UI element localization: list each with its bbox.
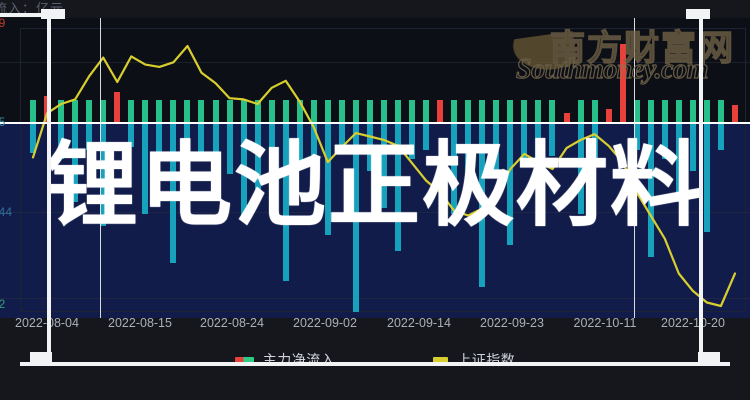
x-axis-label: 2022-08-24	[200, 316, 264, 330]
x-axis-label: 2022-10-11	[573, 316, 636, 330]
x-axis-labels: 2022-08-042022-08-152022-08-242022-09-02…	[0, 316, 750, 336]
legend-swatch-main-net-inflow	[235, 357, 254, 364]
zero-baseline	[0, 122, 750, 124]
x-axis-label: 2022-08-04	[15, 316, 79, 330]
legend-label-main-net-inflow: 主力净流入	[263, 350, 336, 370]
x-axis-label: 2022-10-20	[661, 316, 725, 330]
x-axis-label: 2022-09-23	[480, 316, 544, 330]
y-axis-label: 39	[0, 16, 5, 30]
y-axis-label: 25	[0, 115, 5, 129]
legend-item-shanghai-index[interactable]: 上证指数	[433, 350, 515, 370]
header-partial-text: 流入：亿元	[0, 0, 64, 17]
x-axis-label: 2022-09-14	[387, 316, 451, 330]
legend-item-main-net-inflow[interactable]: 主力净流入	[235, 350, 336, 370]
legend-label-shanghai-index: 上证指数	[457, 350, 515, 370]
x-axis-label: 2022-09-02	[293, 316, 357, 330]
capital-flow-chart-screenshot: 流入：亿元 3902564462 2022-08-042022-08-15202…	[0, 0, 750, 400]
legend-swatch-shanghai-index	[433, 357, 448, 364]
x-axis-label: 2022-08-15	[108, 316, 172, 330]
chart-legend: 主力净流入 上证指数	[0, 348, 750, 372]
overlay-title: 锂电池正极材料	[0, 140, 750, 232]
y-axis-label: 62	[0, 297, 5, 311]
